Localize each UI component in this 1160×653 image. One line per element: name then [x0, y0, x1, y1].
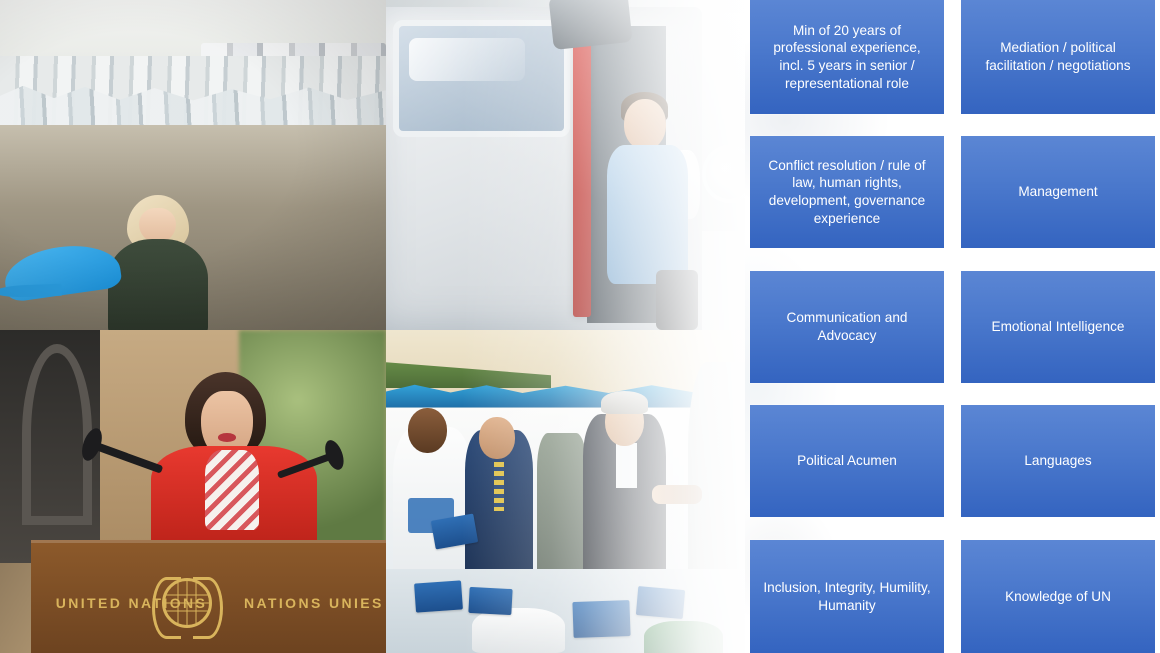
helicopter-haze: [386, 0, 745, 330]
helicopter-scene: [386, 0, 745, 330]
tile-label: Conflict resolution / rule of law, human…: [762, 157, 932, 228]
tile-communication-advocacy[interactable]: Communication and Advocacy: [750, 271, 944, 383]
tile-label: Min of 20 years of professional experien…: [762, 22, 932, 93]
photo-refugee-camp-visit: [0, 0, 386, 330]
tile-label: Languages: [1024, 452, 1091, 470]
photo-collage: UNITED NATIONS NATIONS UNIES: [0, 0, 745, 653]
tile-languages[interactable]: Languages: [961, 405, 1155, 517]
tile-label: Management: [1018, 183, 1097, 201]
refugee-camp-scene: [0, 0, 386, 330]
speaker-mouth: [218, 433, 236, 441]
tent-haze: [386, 330, 745, 653]
tile-label: Knowledge of UN: [1005, 588, 1111, 606]
tile-political-acumen[interactable]: Political Acumen: [750, 405, 944, 517]
podium-text-french: NATIONS UNIES: [244, 595, 384, 611]
distribution-tent-scene: [386, 330, 745, 653]
tile-label: Political Acumen: [797, 452, 897, 470]
tile-management[interactable]: Management: [961, 136, 1155, 248]
tile-values[interactable]: Inclusion, Integrity, Humility, Humanity: [750, 540, 944, 653]
tile-knowledge-of-un[interactable]: Knowledge of UN: [961, 540, 1155, 653]
tile-label: Inclusion, Integrity, Humility, Humanity: [762, 579, 932, 614]
tile-emotional-intelligence[interactable]: Emotional Intelligence: [961, 271, 1155, 383]
un-podium: UNITED NATIONS NATIONS UNIES: [31, 540, 386, 653]
slide-canvas: UNITED NATIONS NATIONS UNIES: [0, 0, 1160, 653]
speaker-scarf: [205, 450, 259, 531]
competency-tile-grid: Min of 20 years of professional experien…: [750, 0, 1160, 653]
tile-experience-requirement[interactable]: Min of 20 years of professional experien…: [750, 0, 944, 114]
tile-conflict-resolution[interactable]: Conflict resolution / rule of law, human…: [750, 136, 944, 248]
tile-label: Emotional Intelligence: [992, 318, 1125, 336]
podium-scene: UNITED NATIONS NATIONS UNIES: [0, 330, 386, 653]
tile-label: Communication and Advocacy: [762, 309, 932, 344]
photo-helicopter-boarding: [386, 0, 745, 330]
globe-shape: [162, 578, 212, 628]
tile-label: Mediation / political facilitation / neg…: [973, 39, 1143, 74]
photo-un-podium-speech: UNITED NATIONS NATIONS UNIES: [0, 330, 386, 653]
camp-vignette: [0, 0, 386, 330]
tile-mediation[interactable]: Mediation / political facilitation / neg…: [961, 0, 1155, 114]
photo-field-distribution-tent: [386, 330, 745, 653]
un-emblem-icon: [150, 566, 224, 640]
